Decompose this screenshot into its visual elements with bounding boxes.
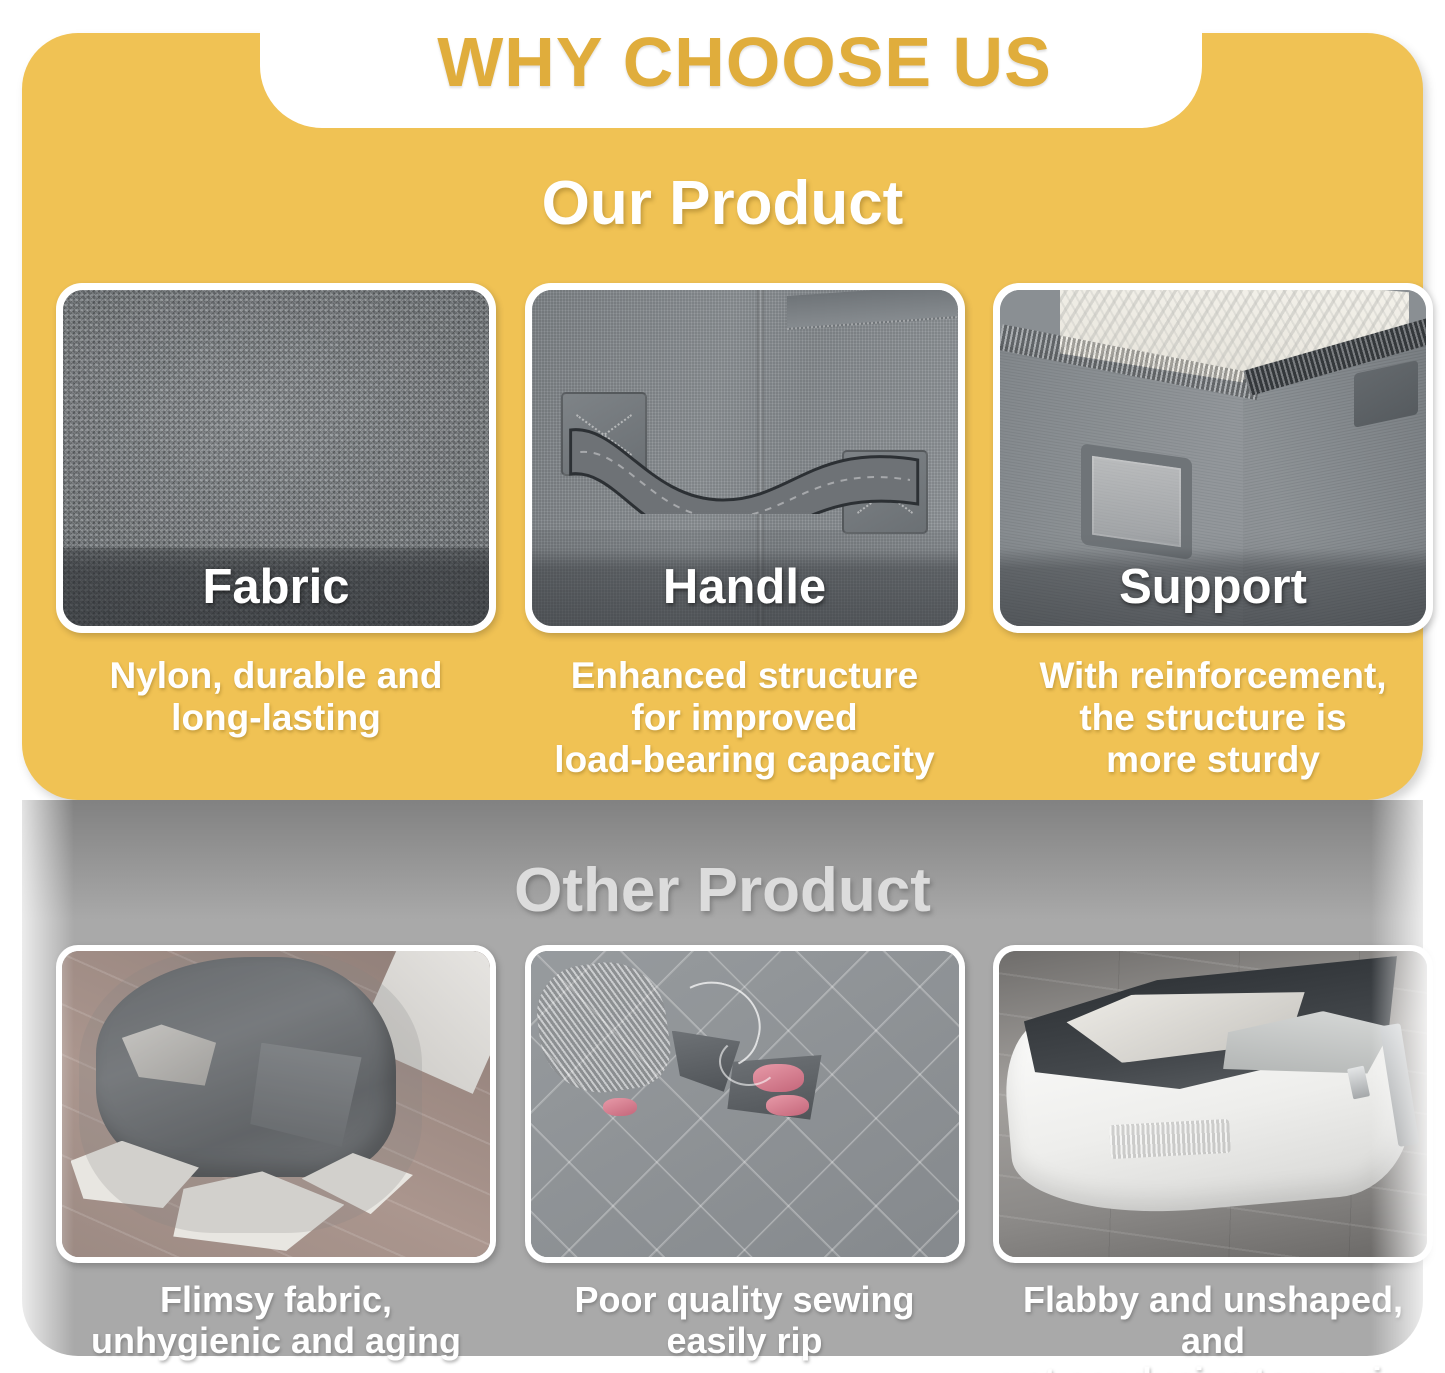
other-product-tile-row [56, 945, 1433, 1263]
problem-tile-poor-sewing [525, 945, 965, 1263]
our-product-heading: Our Product [22, 173, 1423, 235]
support-photo: Support [1000, 290, 1426, 626]
feature-tile-label: Handle [532, 548, 958, 626]
flimsy-fabric-photo [62, 951, 490, 1257]
handle-photo: Handle [532, 290, 958, 626]
other-product-caption-row: Flimsy fabric,unhygienic and aging Poor … [56, 1280, 1433, 1373]
feature-caption-support: With reinforcement,the structure ismore … [993, 655, 1433, 780]
problem-tile-flimsy-fabric [56, 945, 496, 1263]
other-product-panel: Other Product [22, 800, 1423, 1356]
other-product-heading: Other Product [22, 860, 1423, 922]
torn-quilted-fabric-icon [531, 951, 959, 1257]
fabric-photo: Fabric [63, 290, 489, 626]
why-choose-us-infographic: WHY CHOOSE US Our Product Fabric [0, 0, 1445, 1373]
feature-tile-label: Support [1000, 548, 1426, 626]
our-product-panel: WHY CHOOSE US Our Product Fabric [22, 33, 1423, 800]
problem-caption-poor-sewing: Poor quality sewingeasily rip [525, 1280, 965, 1373]
problem-caption-flimsy-fabric: Flimsy fabric,unhygienic and aging [56, 1280, 496, 1373]
feature-tile-support: Support [993, 283, 1433, 633]
feature-caption-handle: Enhanced structurefor improvedload-beari… [525, 655, 965, 780]
feature-tile-fabric: Fabric [56, 283, 496, 633]
collapsed-bag-icon [999, 951, 1427, 1257]
poor-sewing-photo [531, 951, 959, 1257]
feature-caption-fabric: Nylon, durable andlong-lasting [56, 655, 496, 780]
page-title: WHY CHOOSE US [22, 27, 1445, 97]
feature-tile-label: Fabric [63, 548, 489, 626]
our-product-tile-row: Fabric [56, 283, 1433, 633]
shredded-bag-icon [62, 951, 490, 1257]
problem-tile-flabby-shape [993, 945, 1433, 1263]
flabby-bag-photo [999, 951, 1427, 1257]
our-product-caption-row: Nylon, durable andlong-lasting Enhanced … [56, 655, 1433, 780]
problem-caption-flabby-shape: Flabby and unshaped, andnot conducive to… [993, 1280, 1433, 1373]
feature-tile-handle: Handle [525, 283, 965, 633]
